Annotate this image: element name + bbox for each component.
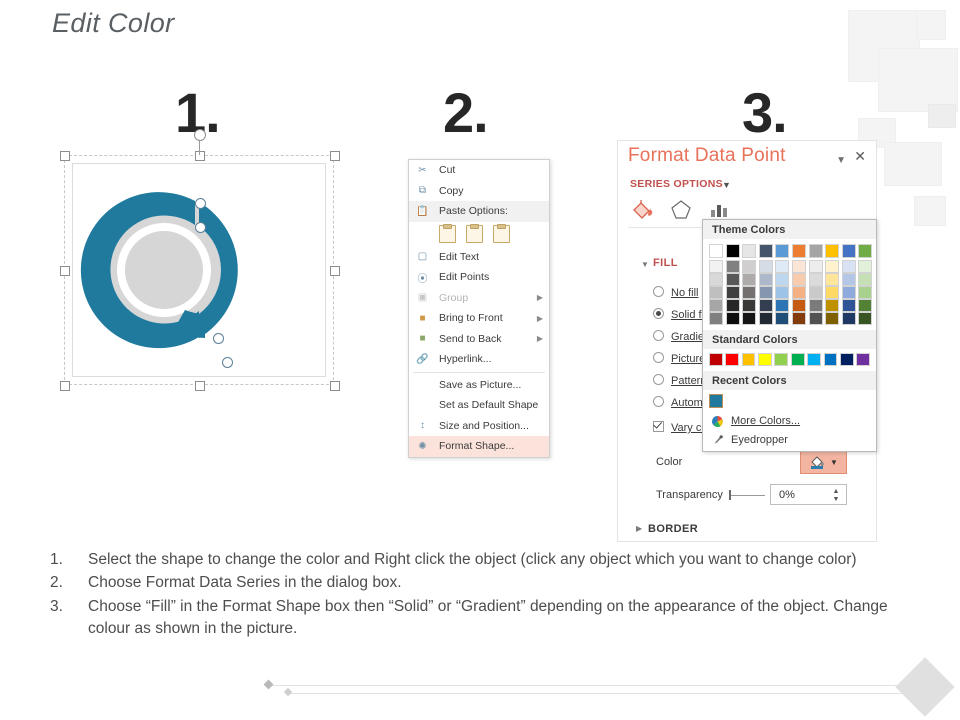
context-menu-item-hyperlink[interactable]: 🔗 Hyperlink... xyxy=(409,349,549,370)
theme-color-column xyxy=(792,244,806,325)
theme-swatch[interactable] xyxy=(792,244,806,258)
group-icon: ▣ xyxy=(415,291,430,305)
transparency-input[interactable]: 0% ▲▼ xyxy=(770,484,847,505)
context-menu-item-copy[interactable]: ⧉ Copy xyxy=(409,181,549,202)
theme-color-column xyxy=(858,244,872,325)
theme-swatch[interactable] xyxy=(726,273,740,286)
instruction-text: Select the shape to change the color and… xyxy=(88,549,890,571)
fill-option-solid-fill[interactable]: Solid fill xyxy=(653,308,709,321)
theme-swatch[interactable] xyxy=(709,299,723,312)
decorative-square xyxy=(916,10,946,40)
chevron-down-icon[interactable]: ▼ xyxy=(722,180,731,190)
theme-swatch[interactable] xyxy=(809,312,823,325)
theme-swatch[interactable] xyxy=(842,286,856,299)
theme-swatch[interactable] xyxy=(792,260,806,273)
theme-swatch[interactable] xyxy=(759,286,773,299)
theme-swatch[interactable] xyxy=(809,273,823,286)
standard-swatch[interactable] xyxy=(725,353,739,366)
theme-color-column xyxy=(726,244,740,325)
theme-color-column xyxy=(742,244,756,325)
donut-inner-disc xyxy=(125,231,203,309)
theme-swatch[interactable] xyxy=(775,299,789,312)
context-menu-label: Hyperlink... xyxy=(439,353,492,365)
theme-swatch[interactable] xyxy=(842,260,856,273)
standard-swatch[interactable] xyxy=(856,353,870,366)
theme-swatch[interactable] xyxy=(742,286,756,299)
theme-swatch[interactable] xyxy=(726,244,740,258)
theme-color-column xyxy=(842,244,856,325)
donut-chart[interactable] xyxy=(64,155,334,385)
theme-colors-grid[interactable] xyxy=(703,239,876,325)
series-options-label[interactable]: SERIES OPTIONS xyxy=(630,178,723,190)
decorative-diamond-large xyxy=(895,657,954,716)
context-menu-label: Cut xyxy=(439,164,455,176)
context-menu-item-size-and-position[interactable]: ↕ Size and Position... xyxy=(409,416,549,437)
context-menu-item-send-to-back[interactable]: ■ Send to Back ▶ xyxy=(409,329,549,350)
transparency-slider-knob[interactable] xyxy=(729,490,731,500)
theme-color-column xyxy=(809,244,823,325)
theme-swatch[interactable] xyxy=(759,299,773,312)
format-shape-icon: ✺ xyxy=(415,439,430,453)
standard-swatch[interactable] xyxy=(840,353,854,366)
context-menu-item-group: ▣ Group ▶ xyxy=(409,288,549,309)
paste-keep-formatting-icon[interactable] xyxy=(439,225,456,243)
point-handle-top-outer[interactable] xyxy=(195,198,206,209)
instruction-number: 1. xyxy=(50,549,88,571)
more-colors-label: More Colors... xyxy=(731,415,800,427)
eyedropper-label: Eyedropper xyxy=(731,434,788,446)
theme-swatch[interactable] xyxy=(726,312,740,325)
theme-swatch[interactable] xyxy=(825,273,839,286)
context-menu-item-cut[interactable]: ✂ Cut xyxy=(409,160,549,181)
theme-swatch[interactable] xyxy=(792,273,806,286)
theme-swatch[interactable] xyxy=(825,312,839,325)
paste-options-row[interactable] xyxy=(409,222,549,247)
eyedropper-icon xyxy=(711,434,724,447)
theme-swatch[interactable] xyxy=(775,273,789,286)
radio-gradient-fill[interactable] xyxy=(653,330,664,341)
theme-swatch[interactable] xyxy=(858,273,872,286)
transparency-value: 0% xyxy=(779,489,795,501)
theme-swatch[interactable] xyxy=(792,299,806,312)
border-section-header[interactable]: BORDER xyxy=(648,523,698,535)
theme-swatch[interactable] xyxy=(775,244,789,258)
theme-swatch[interactable] xyxy=(792,312,806,325)
radio-picture-fill[interactable] xyxy=(653,352,664,363)
theme-swatch[interactable] xyxy=(825,286,839,299)
theme-color-column xyxy=(759,244,773,325)
decorative-diamond xyxy=(264,680,274,690)
theme-swatch[interactable] xyxy=(858,286,872,299)
radio-pattern-fill[interactable] xyxy=(653,374,664,385)
theme-swatch[interactable] xyxy=(858,312,872,325)
chevron-right-icon: ▶ xyxy=(537,314,543,323)
page-title: Edit Color xyxy=(52,8,175,39)
theme-swatch[interactable] xyxy=(709,244,723,258)
copy-icon: ⧉ xyxy=(415,184,430,198)
radio-no-fill[interactable] xyxy=(653,286,664,297)
instruction-item: 2. Choose Format Data Series in the dial… xyxy=(50,572,890,594)
theme-swatch[interactable] xyxy=(726,260,740,273)
standard-swatch[interactable] xyxy=(807,353,821,366)
chevron-right-icon: ▶ xyxy=(537,293,543,302)
decorative-square xyxy=(884,142,942,186)
context-menu-label: Group xyxy=(439,292,468,304)
theme-swatch[interactable] xyxy=(842,244,856,258)
point-handle-bottom-inner[interactable] xyxy=(213,333,224,344)
context-menu-label: Edit Text xyxy=(439,251,479,263)
chevron-right-icon: ▶ xyxy=(537,334,543,343)
context-menu-label: Edit Points xyxy=(439,271,489,283)
paste-icon: 📋 xyxy=(415,204,430,218)
fill-section-header[interactable]: FILL xyxy=(653,257,678,269)
theme-swatch[interactable] xyxy=(759,312,773,325)
theme-swatch[interactable] xyxy=(742,273,756,286)
step-number-3: 3. xyxy=(742,85,787,141)
theme-swatch[interactable] xyxy=(709,260,723,273)
menu-divider xyxy=(413,372,545,373)
chevron-down-icon[interactable]: ▼ xyxy=(836,155,846,166)
instruction-number: 2. xyxy=(50,572,88,594)
edit-text-icon: ▢ xyxy=(415,250,430,264)
theme-swatch[interactable] xyxy=(775,312,789,325)
fill-color-button[interactable]: ▼ xyxy=(800,450,847,474)
instructions-list: 1. Select the shape to change the color … xyxy=(50,549,890,642)
theme-swatch[interactable] xyxy=(842,312,856,325)
step-number-2: 2. xyxy=(443,85,488,141)
theme-swatch[interactable] xyxy=(809,260,823,273)
theme-swatch[interactable] xyxy=(842,273,856,286)
standard-colors-header: Standard Colors xyxy=(703,330,876,349)
triangle-right-icon[interactable]: ▶ xyxy=(636,524,642,533)
theme-swatch[interactable] xyxy=(759,260,773,273)
radio-solid-fill[interactable] xyxy=(653,308,664,319)
theme-swatch[interactable] xyxy=(709,286,723,299)
instruction-item: 3. Choose “Fill” in the Format Shape box… xyxy=(50,596,890,641)
theme-swatch[interactable] xyxy=(809,244,823,258)
theme-swatch[interactable] xyxy=(709,312,723,325)
point-handle-bottom-outer[interactable] xyxy=(222,357,233,368)
edit-points-icon: ⦿ xyxy=(415,270,430,284)
context-menu-label: Copy xyxy=(439,185,464,197)
send-back-icon: ■ xyxy=(415,332,430,346)
radio-automatic[interactable] xyxy=(653,396,664,407)
scissors-icon: ✂ xyxy=(415,163,430,177)
context-menu-label: Save as Picture... xyxy=(439,379,521,391)
standard-swatch[interactable] xyxy=(824,353,838,366)
fill-option-label: No fill xyxy=(671,287,699,299)
pentagon-shape-icon[interactable] xyxy=(668,197,694,221)
theme-swatch[interactable] xyxy=(759,273,773,286)
standard-swatch[interactable] xyxy=(774,353,788,366)
standard-swatch[interactable] xyxy=(709,353,723,366)
standard-colors-row[interactable] xyxy=(703,349,876,371)
color-label: Color xyxy=(656,456,682,468)
theme-color-column xyxy=(709,244,723,325)
size-position-icon: ↕ xyxy=(415,419,430,433)
theme-swatch[interactable] xyxy=(742,260,756,273)
context-menu-label: Bring to Front xyxy=(439,312,503,324)
context-menu-label: Size and Position... xyxy=(439,420,529,432)
chart-effects-icon[interactable] xyxy=(706,197,732,221)
theme-color-column xyxy=(775,244,789,325)
theme-swatch[interactable] xyxy=(809,286,823,299)
theme-swatch[interactable] xyxy=(809,299,823,312)
instruction-text: Choose “Fill” in the Format Shape box th… xyxy=(88,596,890,641)
context-menu-label: Format Shape... xyxy=(439,440,514,452)
theme-swatch[interactable] xyxy=(726,286,740,299)
decorative-diamond xyxy=(284,688,292,696)
theme-swatch[interactable] xyxy=(709,273,723,286)
context-menu-item-format-shape[interactable]: ✺ Format Shape... xyxy=(409,436,549,457)
theme-swatch[interactable] xyxy=(759,244,773,258)
transparency-slider-track[interactable] xyxy=(731,495,765,496)
context-menu-item-edit-points[interactable]: ⦿ Edit Points xyxy=(409,267,549,288)
theme-swatch[interactable] xyxy=(825,244,839,258)
theme-colors-header: Theme Colors xyxy=(703,220,876,239)
context-menu-label: Paste Options: xyxy=(439,205,508,217)
standard-swatch[interactable] xyxy=(791,353,805,366)
theme-swatch[interactable] xyxy=(775,260,789,273)
context-menu-label: Set as Default Shape xyxy=(439,399,538,411)
decorative-square xyxy=(928,104,956,128)
decorative-line xyxy=(288,693,930,694)
theme-swatch[interactable] xyxy=(775,286,789,299)
instruction-number: 3. xyxy=(50,596,88,641)
standard-swatch[interactable] xyxy=(742,353,756,366)
bring-front-icon: ■ xyxy=(415,311,430,325)
recent-swatch[interactable] xyxy=(709,394,723,408)
checkbox-vary-colors[interactable] xyxy=(653,421,664,432)
spinner-updown-icon[interactable]: ▲▼ xyxy=(832,488,840,503)
theme-swatch[interactable] xyxy=(742,299,756,312)
paste-picture-icon[interactable] xyxy=(493,225,510,243)
paste-merge-formatting-icon[interactable] xyxy=(466,225,483,243)
color-wheel-icon xyxy=(711,415,724,428)
context-menu-item-save-as-picture[interactable]: Save as Picture... xyxy=(409,375,549,396)
more-colors-item[interactable]: More Colors... xyxy=(703,411,876,430)
context-menu-item-paste-options[interactable]: 📋 Paste Options: xyxy=(409,201,549,222)
context-menu-item-set-default-shape[interactable]: Set as Default Shape xyxy=(409,395,549,416)
theme-swatch[interactable] xyxy=(858,299,872,312)
theme-swatch[interactable] xyxy=(858,244,872,258)
standard-swatch[interactable] xyxy=(758,353,772,366)
theme-swatch[interactable] xyxy=(742,244,756,258)
slide-canvas: Edit Color 1. 2. 3. ✂ xyxy=(0,0,960,720)
theme-swatch[interactable] xyxy=(842,299,856,312)
recent-colors-header: Recent Colors xyxy=(703,371,876,390)
context-menu[interactable]: ✂ Cut ⧉ Copy 📋 Paste Options: ▢ Edit Tex… xyxy=(408,159,550,458)
theme-swatch[interactable] xyxy=(858,260,872,273)
instruction-item: 1. Select the shape to change the color … xyxy=(50,549,890,571)
recent-colors-row[interactable] xyxy=(703,390,876,411)
pane-title: Format Data Point xyxy=(628,145,786,167)
context-menu-item-edit-text[interactable]: ▢ Edit Text xyxy=(409,247,549,268)
chevron-down-icon[interactable]: ▼ xyxy=(830,458,838,467)
theme-swatch[interactable] xyxy=(825,299,839,312)
point-handle-top-inner[interactable] xyxy=(195,222,206,233)
context-menu-label: Send to Back xyxy=(439,333,501,345)
rotation-handle[interactable] xyxy=(194,129,206,141)
close-icon[interactable]: ✕ xyxy=(854,149,866,163)
theme-swatch[interactable] xyxy=(792,286,806,299)
decorative-square xyxy=(878,48,958,112)
theme-color-column xyxy=(825,244,839,325)
theme-swatch[interactable] xyxy=(742,312,756,325)
decorative-square xyxy=(914,196,946,226)
eyedropper-item[interactable]: Eyedropper xyxy=(703,430,876,449)
decorative-line xyxy=(270,685,930,686)
donut-chart-svg xyxy=(64,155,334,385)
theme-swatch[interactable] xyxy=(726,299,740,312)
triangle-down-icon[interactable]: ▼ xyxy=(641,260,649,269)
fill-bucket-icon[interactable] xyxy=(630,197,656,221)
context-menu-item-bring-to-front[interactable]: ■ Bring to Front ▶ xyxy=(409,308,549,329)
theme-swatch[interactable] xyxy=(825,260,839,273)
transparency-label: Transparency xyxy=(656,489,723,501)
fill-color-icon xyxy=(809,455,827,470)
fill-option-no-fill[interactable]: No fill xyxy=(653,286,699,299)
instruction-text: Choose Format Data Series in the dialog … xyxy=(88,572,890,594)
hyperlink-icon: 🔗 xyxy=(415,352,430,366)
color-picker-dropdown[interactable]: Theme Colors Standard Colors xyxy=(702,219,877,452)
